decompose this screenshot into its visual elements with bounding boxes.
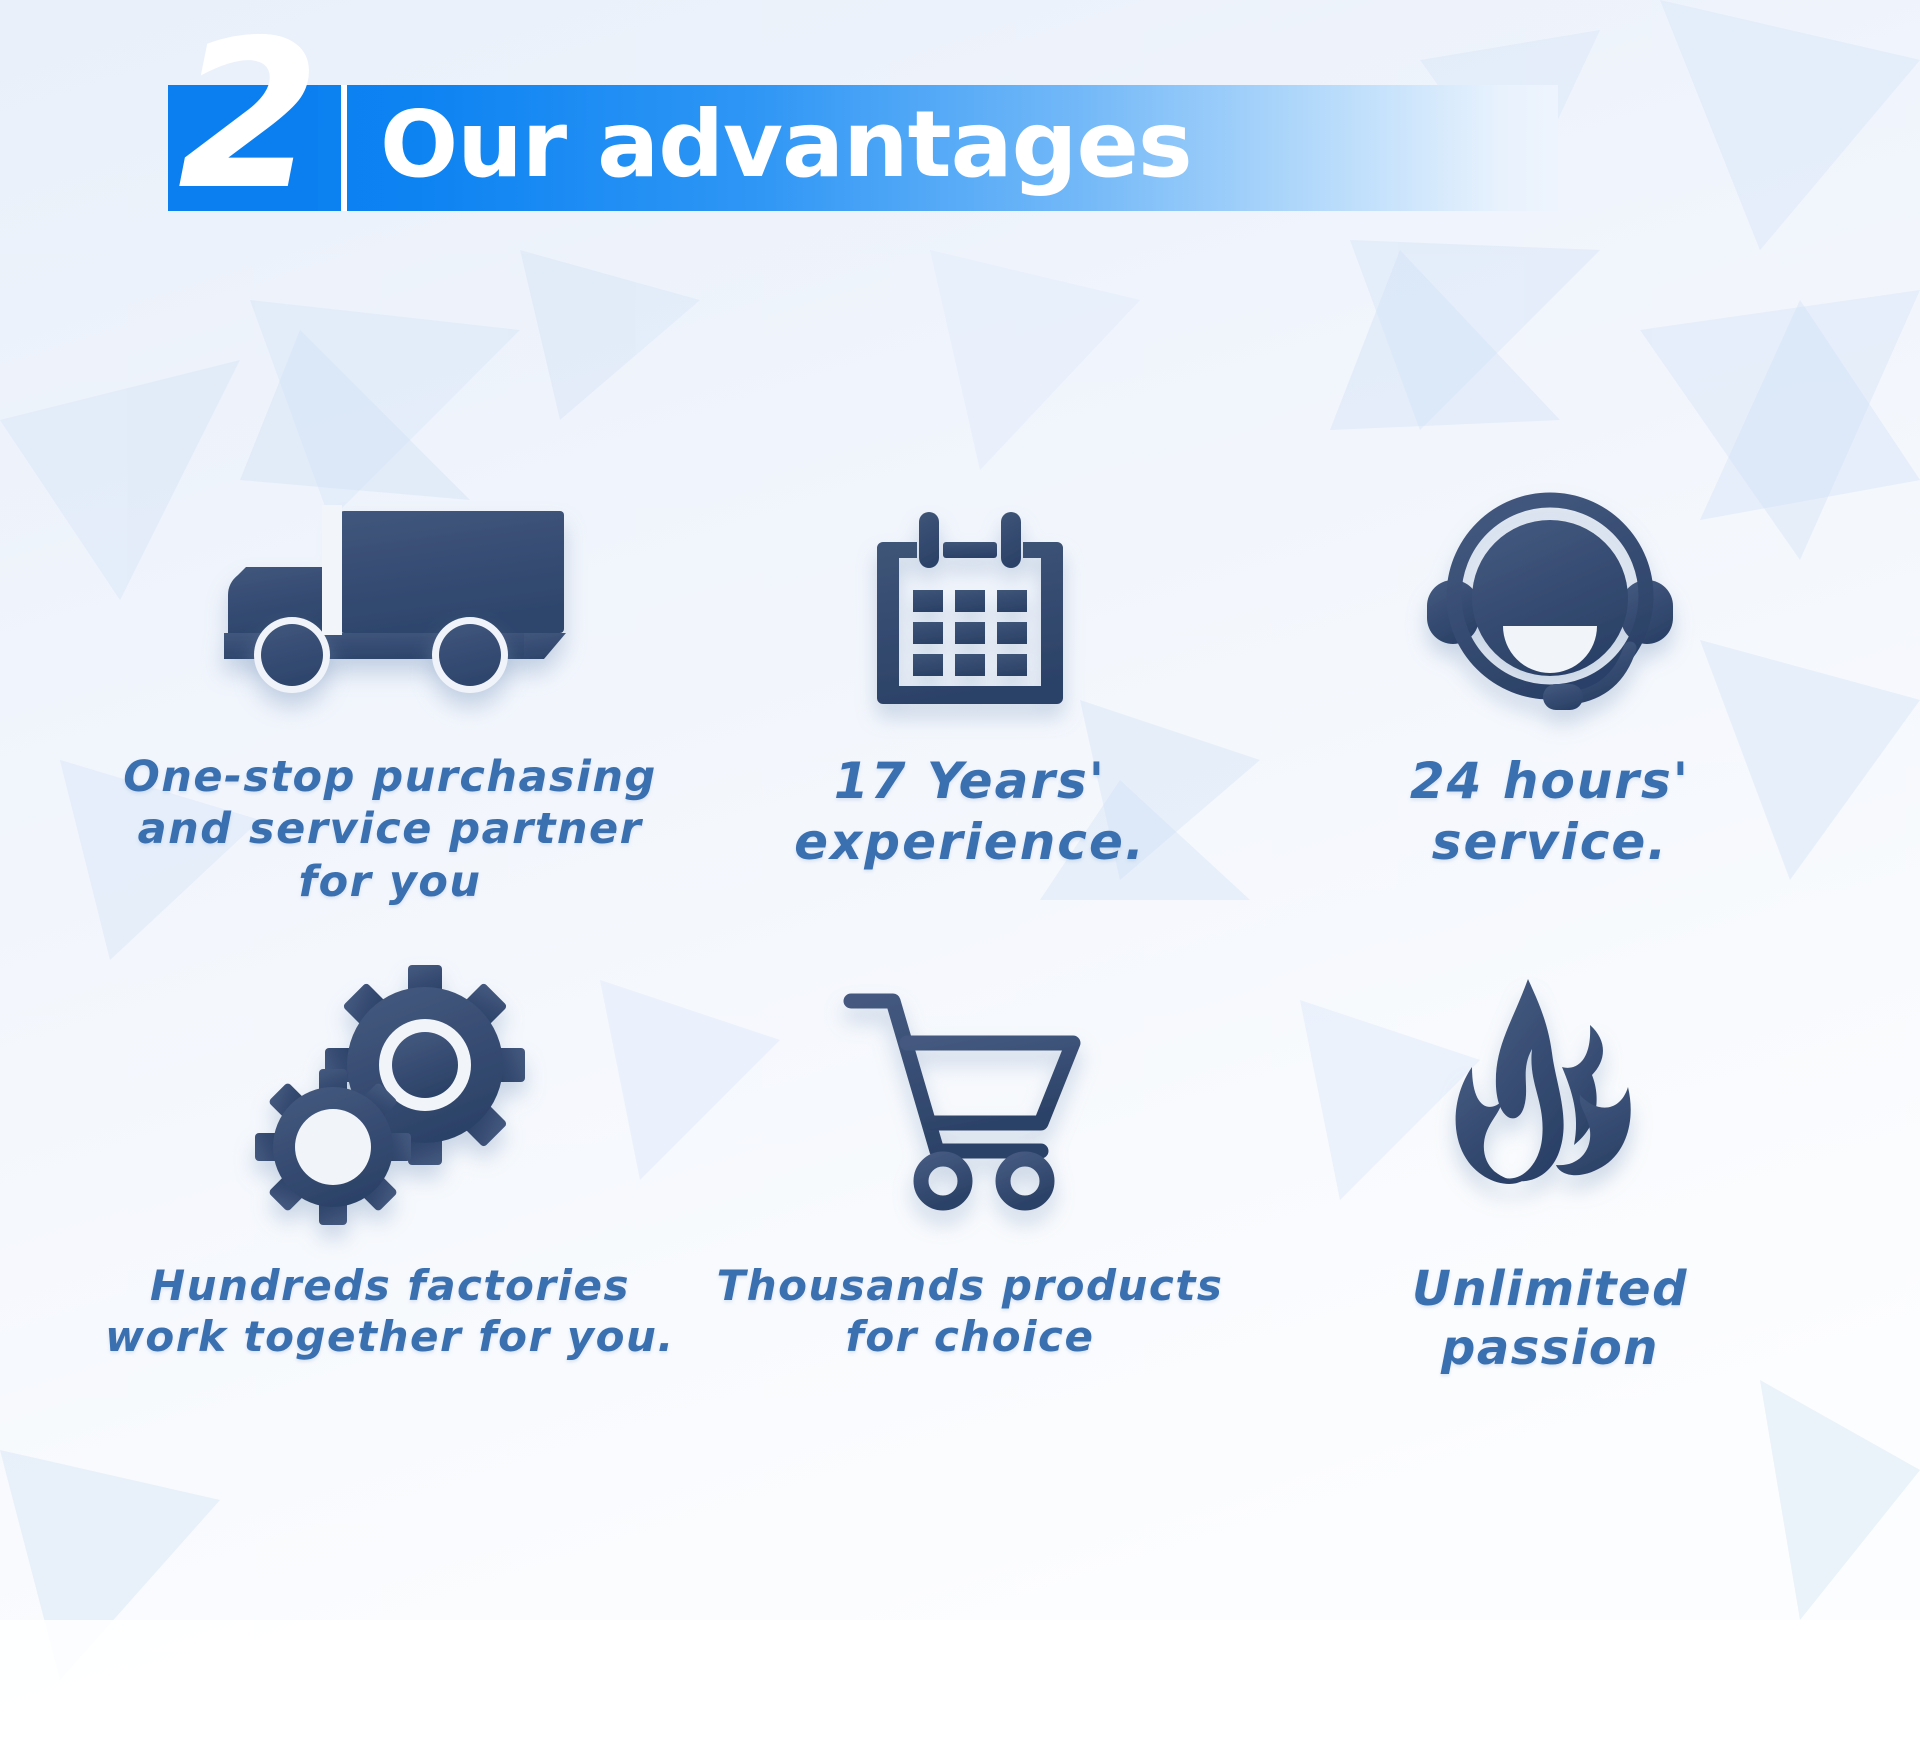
shopping-cart-icon <box>845 950 1095 1250</box>
advantage-card-thousands-products: Thousands products for choice <box>680 950 1260 1430</box>
header: 2 Our advantages <box>0 0 1920 230</box>
gears-icon <box>245 950 535 1250</box>
advantage-caption: One-stop purchasing and service partner … <box>123 751 657 908</box>
flame-icon <box>1450 950 1650 1250</box>
section-number: 2 <box>162 18 332 218</box>
advantages-grid: One-stop purchasing and service partner … <box>100 470 1840 1430</box>
advantage-card-24-hours-service: 24 hours' service. <box>1260 470 1840 950</box>
advantage-caption: Thousands products for choice <box>717 1260 1224 1362</box>
advantage-card-one-stop-purchasing: One-stop purchasing and service partner … <box>100 470 680 950</box>
advantage-caption: 24 hours' service. <box>1410 751 1690 873</box>
delivery-truck-icon <box>214 470 566 735</box>
advantage-caption: 17 Years' experience. <box>794 751 1146 873</box>
advantages-page: 2 Our advantages <box>0 0 1920 1747</box>
advantage-card-hundreds-factories: Hundreds factories work together for you… <box>100 950 680 1430</box>
page-title: Our advantages <box>380 85 1192 211</box>
advantage-caption: Hundreds factories work together for you… <box>105 1260 675 1362</box>
advantage-card-years-experience: 17 Years' experience. <box>680 470 1260 950</box>
advantage-caption: Unlimited passion <box>1412 1260 1688 1377</box>
headset-support-icon <box>1425 470 1675 735</box>
advantage-card-unlimited-passion: Unlimited passion <box>1260 950 1840 1430</box>
header-divider <box>341 85 347 211</box>
calendar-icon <box>865 470 1075 735</box>
